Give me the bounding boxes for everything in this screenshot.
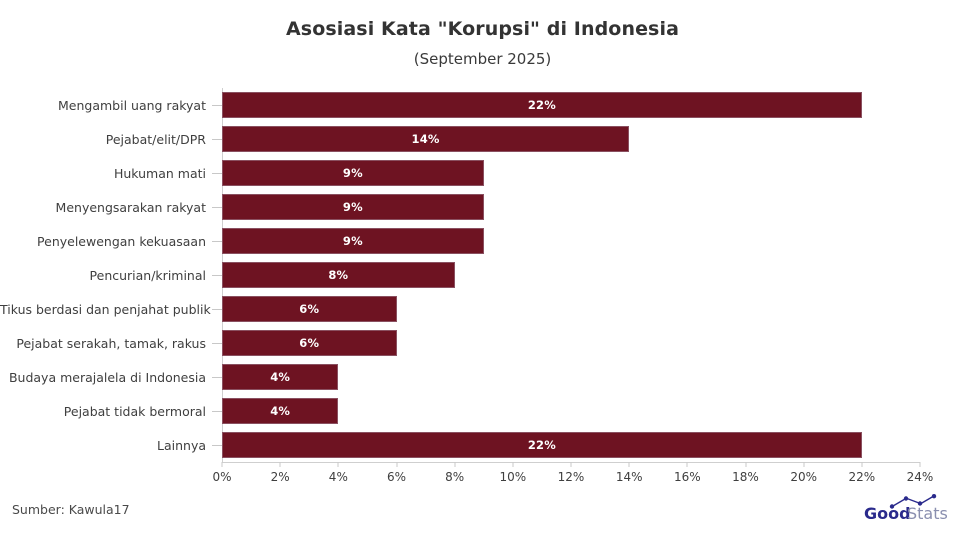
category-label: Pejabat tidak bermoral — [0, 404, 212, 419]
x-axis-tick-label: 18% — [732, 470, 759, 484]
category-label: Budaya merajalela di Indonesia — [0, 370, 212, 385]
y-axis-tick — [212, 139, 222, 140]
bar-value-label: 6% — [299, 302, 319, 316]
y-axis-tick — [212, 411, 222, 412]
bar-row: Pejabat tidak bermoral4% — [0, 394, 965, 428]
x-axis-tick-label: 8% — [445, 470, 464, 484]
bar-row: Penyelewengan kekuasaan9% — [0, 224, 965, 258]
bar-value-label: 4% — [270, 404, 290, 418]
category-label: Pejabat serakah, tamak, rakus — [0, 336, 212, 351]
y-axis-tick — [212, 309, 222, 310]
bar[interactable]: 14% — [222, 126, 629, 152]
bar-value-label: 4% — [270, 370, 290, 384]
bar-row: Pejabat/elit/DPR14% — [0, 122, 965, 156]
bar[interactable]: 9% — [222, 228, 484, 254]
bar[interactable]: 4% — [222, 364, 338, 390]
x-axis-tick — [338, 462, 339, 467]
y-axis-tick — [212, 275, 222, 276]
x-axis-tick — [745, 462, 746, 467]
bar[interactable]: 6% — [222, 296, 397, 322]
bar-track: 22% — [222, 428, 965, 462]
category-label: Lainnya — [0, 438, 212, 453]
category-label: Pejabat/elit/DPR — [0, 132, 212, 147]
x-axis-tick — [396, 462, 397, 467]
bar-row: Budaya merajalela di Indonesia4% — [0, 360, 965, 394]
x-axis-tick-label: 22% — [848, 470, 875, 484]
x-axis-tick — [861, 462, 862, 467]
bar-value-label: 14% — [412, 132, 440, 146]
x-axis-tick — [512, 462, 513, 467]
bar-track: 8% — [222, 258, 965, 292]
x-axis-tick-label: 4% — [329, 470, 348, 484]
category-label: Hukuman mati — [0, 166, 212, 181]
bar[interactable]: 6% — [222, 330, 397, 356]
bar-row: Hukuman mati9% — [0, 156, 965, 190]
category-label: Menyengsarakan rakyat — [0, 200, 212, 215]
y-axis-tick — [212, 105, 222, 106]
title-block: Asosiasi Kata "Korupsi" di Indonesia (Se… — [0, 0, 965, 68]
bar-rows: Mengambil uang rakyat22%Pejabat/elit/DPR… — [0, 88, 965, 462]
bar-value-label: 9% — [343, 200, 363, 214]
bar[interactable]: 9% — [222, 160, 484, 186]
bar-track: 6% — [222, 326, 965, 360]
goodstats-logo-mark: Good Stats — [863, 493, 955, 523]
bar[interactable]: 22% — [222, 92, 862, 118]
bar-row: Menyengsarakan rakyat9% — [0, 190, 965, 224]
x-axis-tick — [222, 462, 223, 467]
bar-value-label: 22% — [528, 98, 556, 112]
x-axis-tick-label: 10% — [499, 470, 526, 484]
bar-value-label: 6% — [299, 336, 319, 350]
x-axis-tick — [280, 462, 281, 467]
logo-secondary-text: Stats — [907, 504, 948, 523]
y-axis-tick — [212, 445, 222, 446]
bar-track: 4% — [222, 360, 965, 394]
x-axis-tick-label: 0% — [212, 470, 231, 484]
x-axis-tick-label: 20% — [790, 470, 817, 484]
x-axis-tick — [920, 462, 921, 467]
x-axis-tick-label: 6% — [387, 470, 406, 484]
x-axis-tick — [687, 462, 688, 467]
x-axis-tick-label: 14% — [616, 470, 643, 484]
bar-row: Pejabat serakah, tamak, rakus6% — [0, 326, 965, 360]
y-axis-tick — [212, 241, 222, 242]
category-label: Pencurian/kriminal — [0, 268, 212, 283]
x-axis-tick — [571, 462, 572, 467]
y-axis-tick — [212, 207, 222, 208]
bar-value-label: 8% — [328, 268, 348, 282]
chart-subtitle: (September 2025) — [0, 50, 965, 68]
bar-track: 14% — [222, 122, 965, 156]
x-axis-tick — [454, 462, 455, 467]
bar-track: 9% — [222, 190, 965, 224]
x-axis-tick-label: 16% — [674, 470, 701, 484]
bar-track: 6% — [222, 292, 965, 326]
page-title: Asosiasi Kata "Korupsi" di Indonesia — [0, 18, 965, 40]
x-axis-tick-label: 12% — [558, 470, 585, 484]
category-label: Tikus berdasi dan penjahat publik — [0, 302, 212, 317]
bar-track: 4% — [222, 394, 965, 428]
category-label: Mengambil uang rakyat — [0, 98, 212, 113]
category-label: Penyelewengan kekuasaan — [0, 234, 212, 249]
x-axis: 0%2%4%6%8%10%12%14%16%18%20%22%24% — [222, 462, 920, 492]
bar-row: Tikus berdasi dan penjahat publik6% — [0, 292, 965, 326]
bar-value-label: 9% — [343, 166, 363, 180]
y-axis-tick — [212, 173, 222, 174]
x-axis-tick-label: 24% — [907, 470, 934, 484]
bar[interactable]: 4% — [222, 398, 338, 424]
bar-row: Pencurian/kriminal8% — [0, 258, 965, 292]
plot-area: Mengambil uang rakyat22%Pejabat/elit/DPR… — [0, 88, 965, 468]
bar-track: 9% — [222, 156, 965, 190]
y-axis-tick — [212, 377, 222, 378]
bar-row: Mengambil uang rakyat22% — [0, 88, 965, 122]
x-axis-tick-label: 2% — [271, 470, 290, 484]
x-axis-tick — [803, 462, 804, 467]
bar-row: Lainnya22% — [0, 428, 965, 462]
y-axis-tick — [212, 343, 222, 344]
goodstats-logo: Good Stats — [863, 495, 955, 523]
bar[interactable]: 9% — [222, 194, 484, 220]
logo-primary-text: Good — [864, 504, 911, 523]
chart-page: Asosiasi Kata "Korupsi" di Indonesia (Se… — [0, 0, 965, 535]
source-note: Sumber: Kawula17 — [12, 502, 130, 517]
bar-track: 9% — [222, 224, 965, 258]
bar-value-label: 22% — [528, 438, 556, 452]
bar[interactable]: 22% — [222, 432, 862, 458]
x-axis-tick — [629, 462, 630, 467]
bar[interactable]: 8% — [222, 262, 455, 288]
bar-value-label: 9% — [343, 234, 363, 248]
bar-track: 22% — [222, 88, 965, 122]
